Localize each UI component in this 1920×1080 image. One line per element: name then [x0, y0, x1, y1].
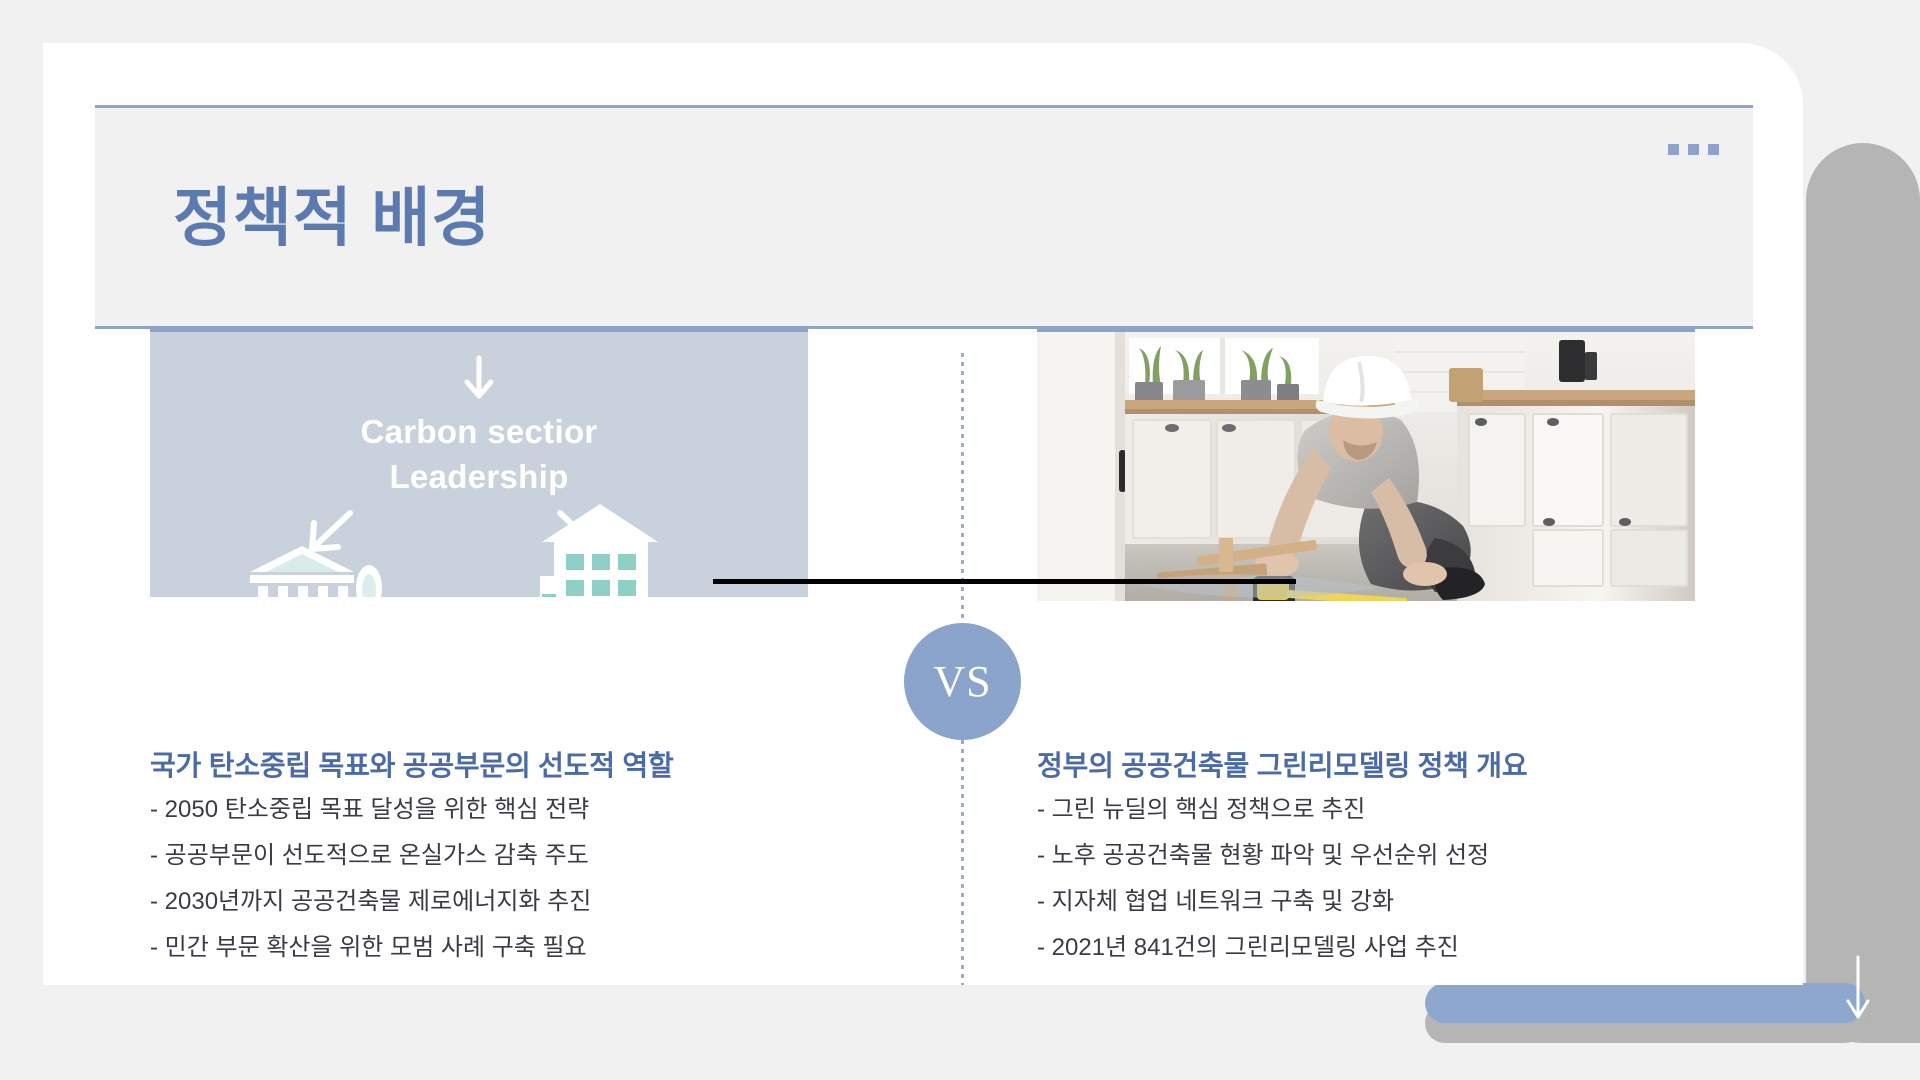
left-column-heading: 국가 탄소중립 목표와 공공부문의 선도적 역할	[150, 744, 674, 784]
caption-line-2: Leadership	[150, 455, 808, 500]
list-item: - 2021년 841건의 그린리모델링 사업 추진	[1037, 936, 1489, 960]
list-item: - 노후 공공건축물 현황 파악 및 우선순위 선정	[1037, 844, 1489, 868]
connector-line	[713, 579, 1296, 584]
list-item: - 지자체 협업 네트워크 구축 및 강화	[1037, 890, 1489, 914]
list-item: - 그린 뉴딜의 핵심 정책으로 추진	[1037, 798, 1489, 822]
left-illustration-panel: Carbon sectior Leadership	[150, 329, 808, 597]
caption-line-1: Carbon sectior	[150, 410, 808, 455]
construction-worker-photo	[1037, 332, 1695, 601]
slide-card: 정책적 배경 Carbon sectior Leadership	[43, 43, 1803, 985]
vs-badge: VS	[904, 623, 1021, 740]
list-item: - 2030년까지 공공건축물 제로에너지화 추진	[150, 890, 591, 914]
scroll-down-arrow-icon[interactable]	[1843, 955, 1873, 1025]
list-item: - 민간 부문 확산을 위한 모범 사례 구축 필요	[150, 936, 591, 960]
slide-content: Carbon sectior Leadership	[43, 43, 1803, 985]
school-building-icon	[540, 502, 700, 597]
list-item: - 2050 탄소중립 목표 달성을 위한 핵심 전략	[150, 798, 591, 822]
right-photo-panel	[1037, 329, 1695, 601]
illustration-caption: Carbon sectior Leadership	[150, 410, 808, 499]
right-column-heading: 정부의 공공건축물 그린리모델링 정책 개요	[1037, 744, 1527, 784]
decorative-gray-pill	[1806, 143, 1920, 1043]
classical-building-icon	[242, 544, 362, 597]
decorative-blue-bar	[1425, 983, 1865, 1023]
right-column-bullets: - 그린 뉴딜의 핵심 정책으로 추진 - 노후 공공건축물 현황 파악 및 우…	[1037, 798, 1489, 982]
left-column-bullets: - 2050 탄소중립 목표 달성을 위한 핵심 전략 - 공공부문이 선도적으…	[150, 798, 591, 982]
list-item: - 공공부문이 선도적으로 온실가스 감축 주도	[150, 844, 591, 868]
tree-icon	[350, 564, 388, 597]
down-arrow-icon	[457, 354, 501, 402]
